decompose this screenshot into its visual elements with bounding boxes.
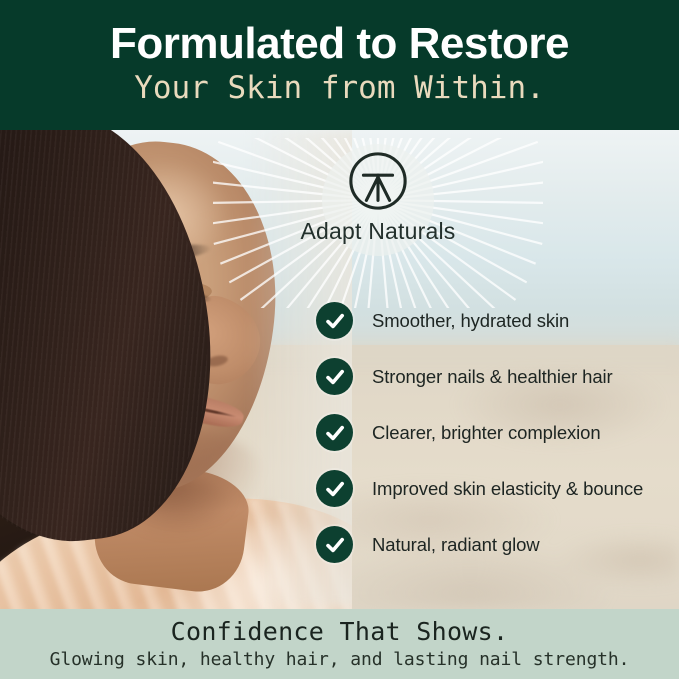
benefit-item: Smoother, hydrated skin — [316, 293, 676, 348]
check-circle-icon — [316, 414, 353, 451]
header-banner: Formulated to Restore Your Skin from Wit… — [0, 0, 679, 130]
footer-title: Confidence That Shows. — [171, 618, 509, 646]
check-circle-icon — [316, 358, 353, 395]
benefit-label: Improved skin elasticity & bounce — [372, 478, 643, 500]
benefit-item: Stronger nails & healthier hair — [316, 349, 676, 404]
benefit-item: Clearer, brighter complexion — [316, 405, 676, 460]
lifestyle-photo: Adapt Naturals Smoother, hydrated skin — [0, 130, 679, 609]
page-subtitle: Your Skin from Within. — [134, 70, 545, 106]
brand-name: Adapt Naturals — [301, 218, 456, 245]
benefit-item: Natural, radiant glow — [316, 517, 676, 572]
check-circle-icon — [316, 302, 353, 339]
page-title: Formulated to Restore — [110, 20, 569, 68]
benefit-list: Smoother, hydrated skin Stronger nails &… — [316, 293, 676, 573]
benefit-label: Natural, radiant glow — [372, 534, 540, 556]
tripod-circle-logo-icon — [347, 150, 409, 212]
check-circle-icon — [316, 470, 353, 507]
benefit-label: Stronger nails & healthier hair — [372, 366, 613, 388]
product-benefit-ad: Adapt Naturals Smoother, hydrated skin — [0, 0, 679, 679]
brand-logo: Adapt Naturals — [248, 150, 508, 245]
check-circle-icon — [316, 526, 353, 563]
footer-subtitle: Glowing skin, healthy hair, and lasting … — [50, 649, 630, 671]
benefit-label: Clearer, brighter complexion — [372, 422, 601, 444]
benefit-item: Improved skin elasticity & bounce — [316, 461, 676, 516]
footer-banner: Confidence That Shows. Glowing skin, hea… — [0, 609, 679, 679]
benefit-label: Smoother, hydrated skin — [372, 310, 569, 332]
